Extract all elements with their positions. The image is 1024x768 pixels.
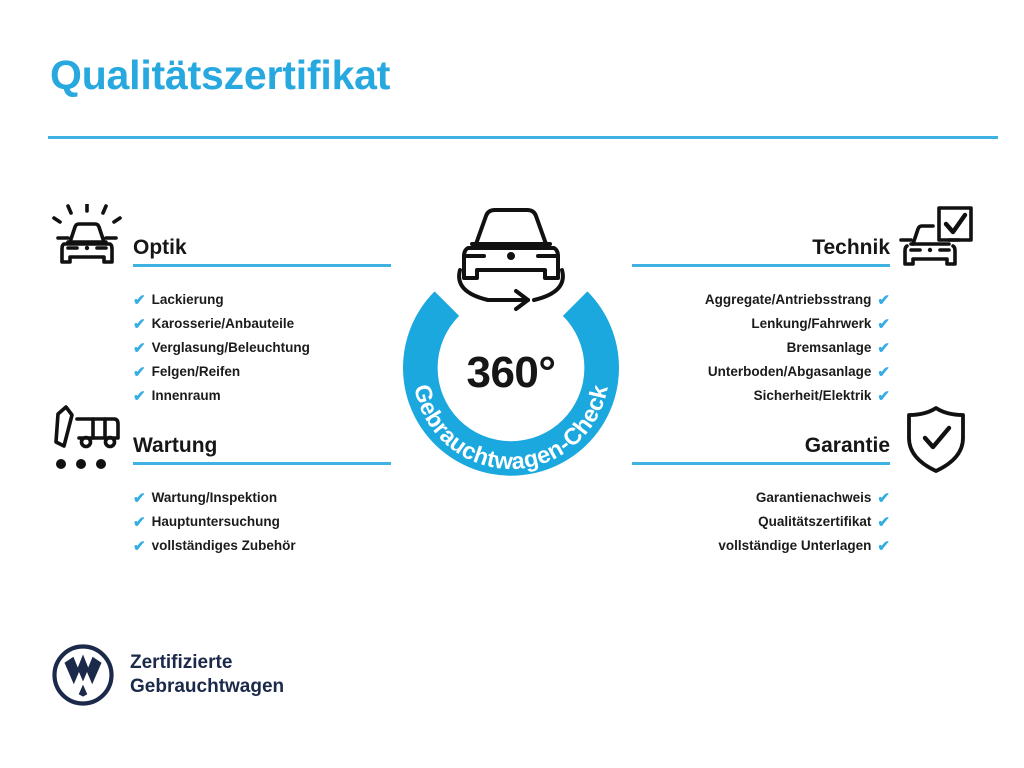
list-item-label: Karosserie/Anbauteile [152, 312, 295, 336]
list-item: Unterboden/Abgasanlage ✔ [632, 360, 890, 384]
list-item-label: Lenkung/Fahrwerk [751, 312, 871, 336]
check-icon: ✔ [877, 491, 890, 506]
list-item: ✔ vollständiges Zubehör [133, 534, 391, 558]
check-icon: ✔ [877, 539, 890, 554]
list-item: ✔ Hauptuntersuchung [133, 510, 391, 534]
check-icon: ✔ [133, 389, 146, 404]
check-icon: ✔ [877, 341, 890, 356]
list-item: ✔ Karosserie/Anbauteile [133, 312, 391, 336]
list-item-label: Verglasung/Beleuchtung [152, 336, 310, 360]
list-item-label: vollständige Unterlagen [718, 534, 871, 558]
list-item-label: Wartung/Inspektion [152, 486, 278, 510]
header-divider [48, 136, 998, 139]
list-item: Aggregate/Antriebsstrang ✔ [632, 288, 890, 312]
check-icon: ✔ [877, 515, 890, 530]
section-title: Technik [632, 236, 890, 260]
check-icon: ✔ [877, 293, 890, 308]
footer-line-1: Zertifizierte [130, 651, 284, 675]
list-item: Garantienachweis ✔ [632, 486, 890, 510]
section-header-garantie: Garantie [632, 434, 890, 465]
list-item-label: Sicherheit/Elektrik [754, 384, 872, 408]
check-icon: ✔ [133, 539, 146, 554]
shield-check-icon [897, 402, 975, 478]
section-underline [133, 462, 391, 465]
car-checkbox-icon [897, 204, 975, 280]
section-title: Garantie [632, 434, 890, 458]
list-item-label: Garantienachweis [756, 486, 872, 510]
volkswagen-logo [52, 644, 114, 706]
certificate-page: Qualitätszertifikat Optik [0, 0, 1024, 768]
footer-line-2: Gebrauchtwagen [130, 675, 284, 699]
check-icon: ✔ [133, 317, 146, 332]
footer: Zertifizierte Gebrauchtwagen [52, 644, 284, 706]
list-item: ✔ Lackierung [133, 288, 391, 312]
checklist-wartung: ✔ Wartung/Inspektion ✔ Hauptuntersuchung… [133, 486, 391, 558]
badge-center-label: 360° [376, 348, 646, 398]
list-item: Sicherheit/Elektrik ✔ [632, 384, 890, 408]
check-icon: ✔ [133, 341, 146, 356]
list-item: ✔ Verglasung/Beleuchtung [133, 336, 391, 360]
list-item: Qualitätszertifikat ✔ [632, 510, 890, 534]
check-icon: ✔ [133, 365, 146, 380]
list-item: Bremsanlage ✔ [632, 336, 890, 360]
list-item: Lenkung/Fahrwerk ✔ [632, 312, 890, 336]
list-item-label: Lackierung [152, 288, 224, 312]
list-item-label: Qualitätszertifikat [758, 510, 871, 534]
section-underline [133, 264, 391, 267]
section-title: Wartung [133, 434, 391, 458]
list-item: ✔ Felgen/Reifen [133, 360, 391, 384]
list-item-label: Felgen/Reifen [152, 360, 241, 384]
page-title: Qualitätszertifikat [50, 52, 390, 99]
list-item-label: Bremsanlage [787, 336, 872, 360]
section-header-optik: Optik [133, 236, 391, 267]
car-shine-icon [48, 204, 126, 280]
check-icon: ✔ [877, 389, 890, 404]
list-item-label: Unterboden/Abgasanlage [708, 360, 872, 384]
check-icon: ✔ [133, 491, 146, 506]
checklist-garantie: Garantienachweis ✔ Qualitätszertifikat ✔… [632, 486, 890, 558]
service-pen-car-icon [48, 402, 126, 478]
checklist-technik: Aggregate/Antriebsstrang ✔ Lenkung/Fahrw… [632, 288, 890, 408]
list-item: ✔ Innenraum [133, 384, 391, 408]
footer-text: Zertifizierte Gebrauchtwagen [130, 651, 284, 699]
section-header-wartung: Wartung [133, 434, 391, 465]
section-underline [632, 462, 890, 465]
list-item-label: Aggregate/Antriebsstrang [705, 288, 872, 312]
list-item: vollständige Unterlagen ✔ [632, 534, 890, 558]
checklist-optik: ✔ Lackierung ✔ Karosserie/Anbauteile ✔ V… [133, 288, 391, 408]
section-header-technik: Technik [632, 236, 890, 267]
car-rotate-360-icon [459, 210, 563, 309]
check-icon: ✔ [877, 317, 890, 332]
list-item-label: Innenraum [152, 384, 221, 408]
list-item-label: Hauptuntersuchung [152, 510, 280, 534]
section-underline [632, 264, 890, 267]
section-title: Optik [133, 236, 391, 260]
check-icon: ✔ [133, 293, 146, 308]
check-icon: ✔ [877, 365, 890, 380]
badge-360-check: Gebrauchtwagen-Check 360° [376, 196, 646, 486]
list-item: ✔ Wartung/Inspektion [133, 486, 391, 510]
list-item-label: vollständiges Zubehör [152, 534, 296, 558]
check-icon: ✔ [133, 515, 146, 530]
